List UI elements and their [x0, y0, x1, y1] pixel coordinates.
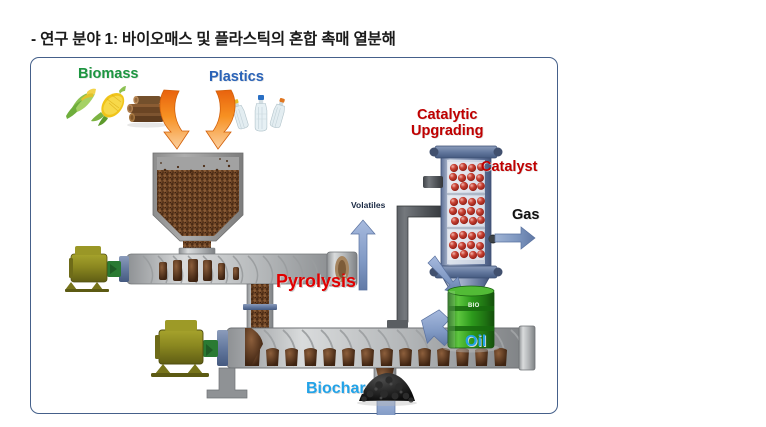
- label-oil: Oil: [465, 333, 486, 351]
- label-gas: Gas: [512, 207, 539, 223]
- label-catalytic-upgrading: Catalytic Upgrading: [411, 107, 484, 139]
- motor-icon: [65, 246, 109, 292]
- biochar-pile-icon: [357, 373, 417, 406]
- label-plastics: Plastics: [209, 69, 264, 85]
- corn-husk-icon: [66, 89, 96, 119]
- label-catalyst: Catalyst: [481, 159, 537, 175]
- label-barrel-mark: BIO: [468, 303, 480, 309]
- figure-panel: Biomass Plastics Catalytic Upgrading Cat…: [30, 57, 558, 414]
- gas-arrow-icon: [495, 227, 535, 249]
- transfer-chute: [243, 284, 277, 328]
- feed-arrow-icon: [160, 90, 235, 149]
- plastic-bottle-icon: [230, 95, 287, 131]
- label-catalytic-upgrading-line2: Upgrading: [411, 123, 484, 139]
- corn-cob-icon: [91, 86, 126, 126]
- label-catalytic-upgrading-line1: Catalytic: [411, 107, 484, 123]
- motor-icon-main: [151, 320, 209, 377]
- label-pyrolysis: Pyrolysis: [276, 271, 356, 291]
- label-biomass: Biomass: [78, 66, 138, 82]
- slide-canvas: - 연구 분야 1: 바이오매스 및 플라스틱의 혼합 촉매 열분해: [0, 0, 766, 427]
- label-volatiles: Volatiles: [351, 201, 385, 211]
- catalyst-pellet-icon: [448, 162, 485, 260]
- page-title: - 연구 분야 1: 바이오매스 및 플라스틱의 혼합 촉매 열분해: [31, 27, 396, 49]
- label-biochar: Biochar: [306, 380, 366, 398]
